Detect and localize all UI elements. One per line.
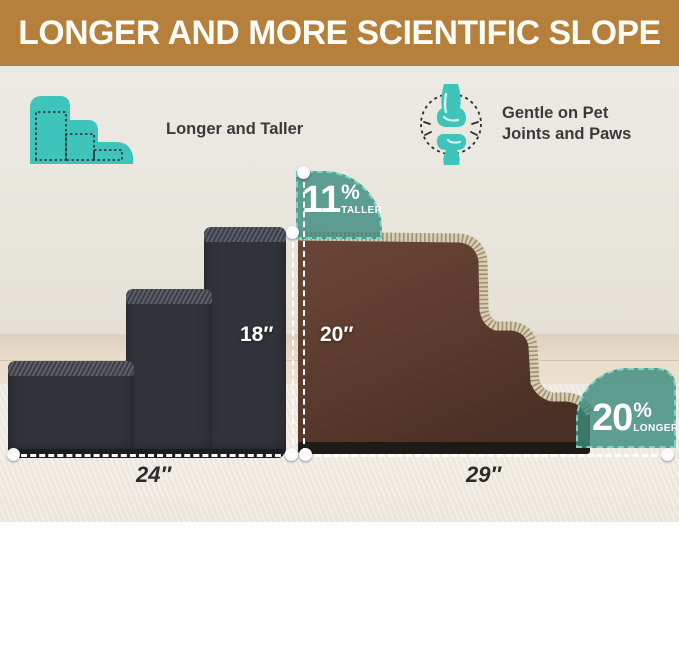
dot-left-width-start [7, 448, 20, 461]
badge-taller-number: 11 [302, 185, 340, 216]
feature-gentle-joints: Gentle on Pet Joints and Paws [418, 82, 631, 166]
badge-20-percent-longer: 20 % LONGER [592, 402, 678, 434]
right-width-label: 29″ [466, 462, 501, 488]
infographic-root: LONGER AND MORE SCIENTIFIC SLOPE Lon [0, 0, 679, 657]
dot-right-height-top [297, 166, 310, 179]
feature-longer-taller: Longer and Taller [26, 90, 303, 168]
badge-longer-number: 20 [592, 403, 632, 434]
comparison-footer: Other 4-step stairs Shorter and smaller … [0, 522, 679, 657]
other-stairs-step-1 [8, 364, 134, 456]
product-comparison-photo: Longer and Taller Gentl [0, 66, 679, 522]
dot-left-width-end [285, 448, 298, 461]
left-height-label: 18″ [240, 323, 273, 347]
dot-right-width-end [661, 448, 674, 461]
joint-icon [418, 82, 484, 166]
right-width-line [306, 454, 666, 457]
feature-longer-taller-label: Longer and Taller [166, 119, 303, 140]
left-width-label: 24″ [136, 462, 171, 488]
feature-gentle-joints-label: Gentle on Pet Joints and Paws [502, 103, 631, 144]
badge-longer-percent: % [633, 402, 652, 421]
badge-11-percent-taller: 11 % TALLER [302, 184, 382, 216]
badge-taller-word: TALLER [341, 205, 382, 216]
other-stairs-step-2 [126, 292, 212, 456]
stairs-icon [26, 90, 138, 168]
header-banner: LONGER AND MORE SCIENTIFIC SLOPE [0, 0, 679, 66]
left-height-line [292, 232, 294, 454]
right-height-label: 20″ [320, 323, 353, 347]
dot-right-width-start [299, 448, 312, 461]
dot-left-height-top [286, 226, 299, 239]
badge-longer-word: LONGER [633, 423, 678, 434]
page-title: LONGER AND MORE SCIENTIFIC SLOPE [18, 14, 660, 53]
left-width-line [12, 454, 290, 457]
badge-taller-percent: % [341, 184, 360, 203]
right-height-line [303, 172, 305, 454]
